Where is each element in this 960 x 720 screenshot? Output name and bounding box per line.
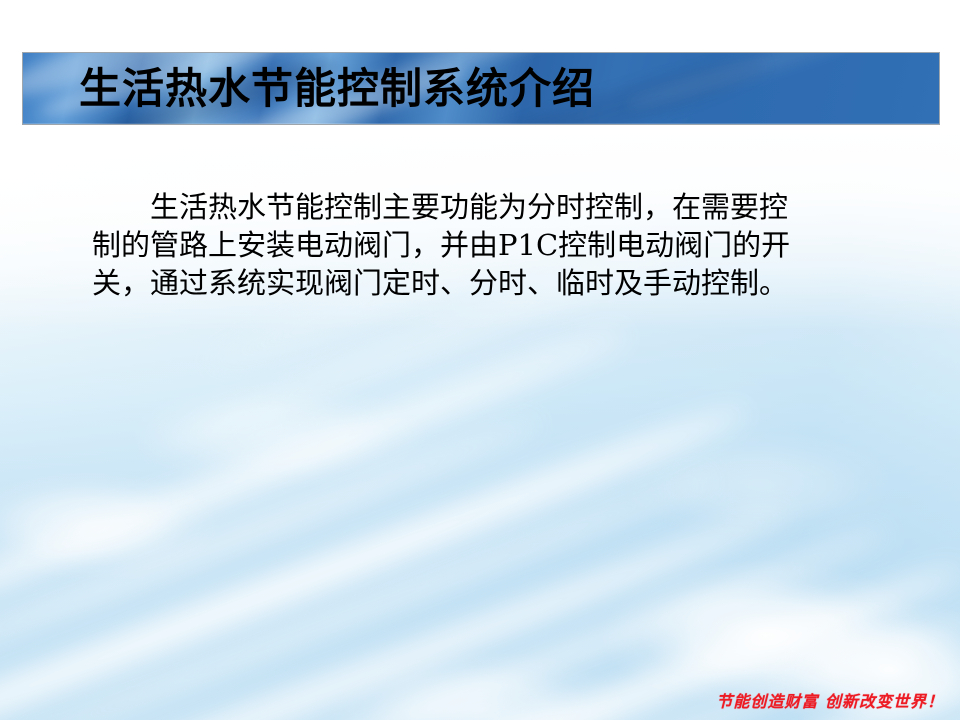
cloud-puff	[620, 430, 900, 540]
title-banner: 生活热水节能控制系统介绍	[22, 52, 940, 125]
cloud-puff	[130, 380, 430, 490]
footer-slogan: 节能创造财富 创新改变世界！	[716, 688, 944, 712]
page-title: 生活热水节能控制系统介绍	[79, 68, 595, 110]
body-paragraph: 生活热水节能控制主要功能为分时控制，在需要控制的管路上安装电动阀门，并由P1C控…	[92, 188, 792, 302]
slide-canvas: 生活热水节能控制系统介绍 生活热水节能控制主要功能为分时控制，在需要控制的管路上…	[0, 0, 960, 720]
